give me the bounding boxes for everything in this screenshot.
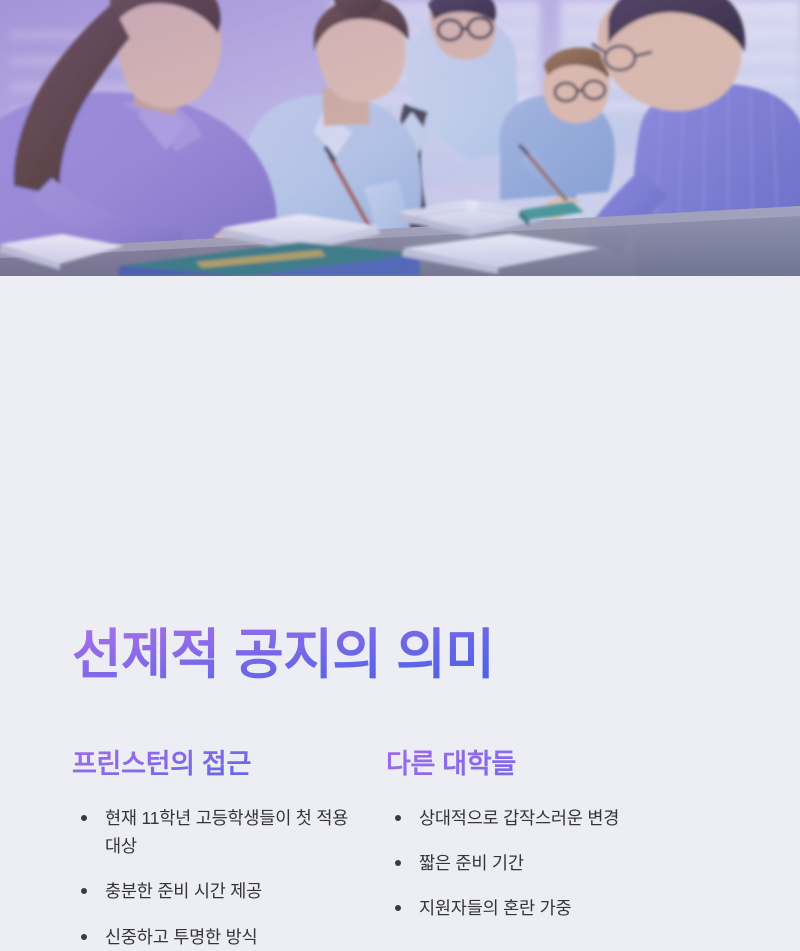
list-item: 충분한 준비 시간 제공 xyxy=(72,877,352,905)
list-item-text: 신중하고 투명한 방식 xyxy=(105,927,257,947)
bullet-dot-icon xyxy=(395,815,401,821)
list-item: 상대적으로 갑작스러운 변경 xyxy=(386,804,740,832)
page-title: 선제적 공지의 의미 xyxy=(72,624,494,688)
bullet-dot-icon xyxy=(395,860,401,866)
list-item-text: 현재 11학년 고등학생들이 첫 적용 대상 xyxy=(105,808,348,856)
column-heading-princeton: 프린스턴의 접근 xyxy=(72,748,352,782)
list-item: 신중하고 투명한 방식 xyxy=(72,923,352,951)
bullet-dot-icon xyxy=(81,934,87,940)
list-item-text: 지원자들의 혼란 가중 xyxy=(419,898,571,918)
list-item-text: 짧은 준비 기간 xyxy=(419,853,524,873)
column-princeton: 프린스턴의 접근 현재 11학년 고등학생들이 첫 적용 대상 충분한 준비 시… xyxy=(0,748,360,951)
content-area: 선제적 공지의 의미 프린스턴의 접근 현재 11학년 고등학생들이 첫 적용 … xyxy=(0,276,800,800)
info-card: 선제적 공지의 의미 프린스턴의 접근 현재 11학년 고등학생들이 첫 적용 … xyxy=(0,0,800,800)
bullet-dot-icon xyxy=(81,815,87,821)
list-item: 현재 11학년 고등학생들이 첫 적용 대상 xyxy=(72,804,352,861)
columns-wrapper: 프린스턴의 접근 현재 11학년 고등학생들이 첫 적용 대상 충분한 준비 시… xyxy=(0,748,800,951)
classroom-illustration xyxy=(0,0,800,276)
bullet-dot-icon xyxy=(395,905,401,911)
bullet-dot-icon xyxy=(81,888,87,894)
list-item-text: 상대적으로 갑작스러운 변경 xyxy=(419,808,619,828)
list-item: 지원자들의 혼란 가중 xyxy=(386,894,740,922)
bullet-list-other-universities: 상대적으로 갑작스러운 변경 짧은 준비 기간 지원자들의 혼란 가중 xyxy=(386,804,740,923)
list-item: 짧은 준비 기간 xyxy=(386,849,740,877)
list-item-text: 충분한 준비 시간 제공 xyxy=(105,881,262,901)
column-heading-other-universities: 다른 대학들 xyxy=(386,748,740,782)
hero-photo xyxy=(0,0,800,276)
bullet-list-princeton: 현재 11학년 고등학생들이 첫 적용 대상 충분한 준비 시간 제공 신중하고… xyxy=(72,804,352,951)
column-other-universities: 다른 대학들 상대적으로 갑작스러운 변경 짧은 준비 기간 지원자들의 혼란 … xyxy=(360,748,760,951)
